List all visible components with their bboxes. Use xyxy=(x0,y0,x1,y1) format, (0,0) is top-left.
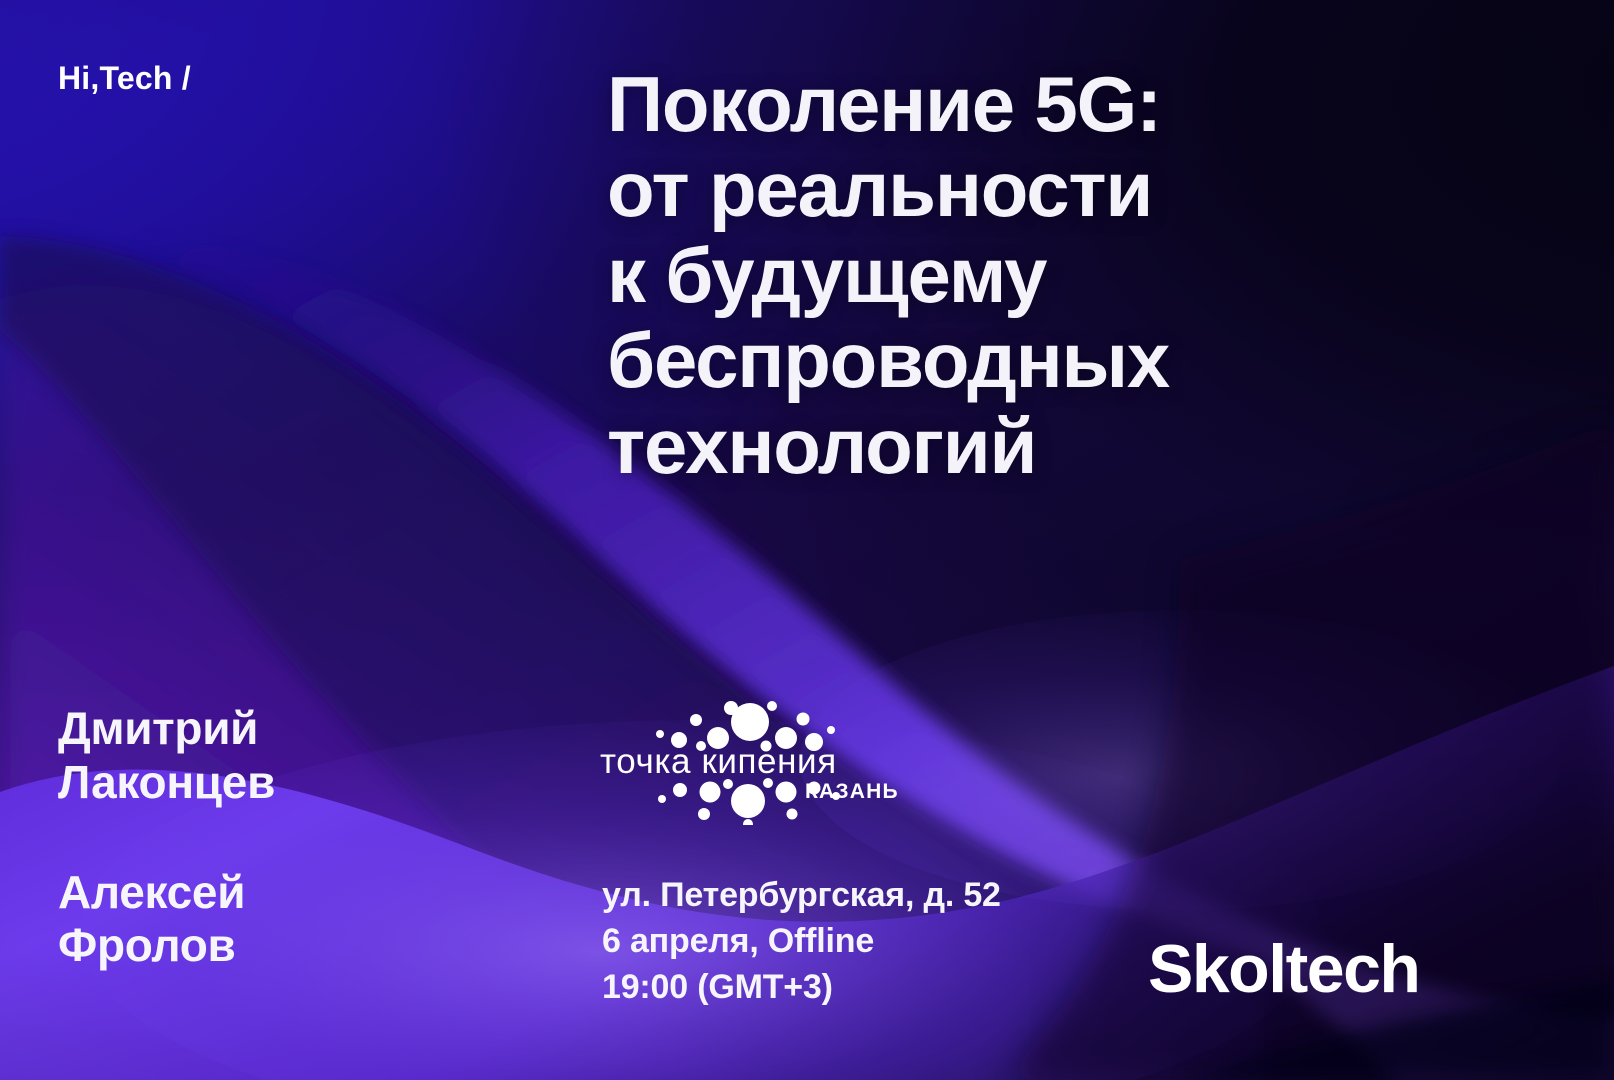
event-poster: Hi,Tech / Поколение 5G: от реальности к … xyxy=(0,0,1614,1080)
venue-logo-city: КАЗАНЬ xyxy=(805,780,899,804)
event-details: ул. Петербургская, д. 52 6 апреля, Offli… xyxy=(602,872,1001,1011)
venue-logo-wordmark: точка кипения xyxy=(600,742,910,782)
event-date-format: 6 апреля, Offline xyxy=(602,918,1001,964)
event-address: ул. Петербургская, д. 52 xyxy=(602,872,1001,918)
speaker-first-name: Дмитрий xyxy=(58,702,275,756)
title-line-4: беспроводных xyxy=(607,318,1427,403)
title-line-5: технологий xyxy=(607,404,1427,489)
title-line-1: Поколение 5G: xyxy=(607,62,1427,147)
speaker-item: Дмитрий Лаконцев xyxy=(58,702,275,810)
speaker-list: Дмитрий Лаконцев Алексей Фролов xyxy=(58,702,275,973)
title-line-2: от реальности xyxy=(607,147,1427,232)
venue-logo-tochka-kipeniya: точка кипения КАЗАНЬ xyxy=(600,700,910,825)
brand-logo-hitech: Hi,Tech / xyxy=(58,60,191,97)
title-line-3: к будущему xyxy=(607,233,1427,318)
speaker-last-name: Лаконцев xyxy=(58,756,275,810)
speaker-last-name: Фролов xyxy=(58,919,275,973)
speaker-first-name: Алексей xyxy=(58,866,275,920)
speaker-item: Алексей Фролов xyxy=(58,866,275,974)
event-time: 19:00 (GMT+3) xyxy=(602,964,1001,1010)
page-title: Поколение 5G: от реальности к будущему б… xyxy=(607,62,1427,489)
organizer-logo-skoltech: Skoltech xyxy=(1148,930,1419,1008)
